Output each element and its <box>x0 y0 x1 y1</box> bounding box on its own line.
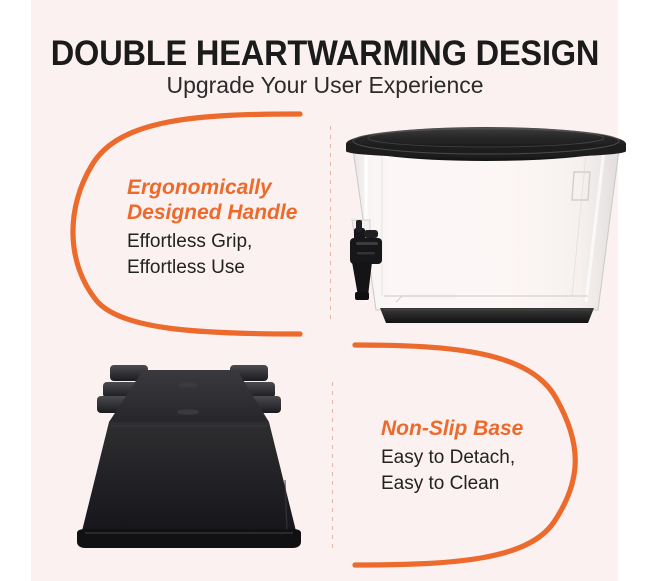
feature-kicker-ergonomic-handle: Ergonomically Designed Handle <box>127 175 342 225</box>
stand-bottom-rail <box>77 529 301 548</box>
marketing-banner: DOUBLE HEARTWARMING DESIGN Upgrade Your … <box>0 0 650 581</box>
feature-body-ergonomic-handle: Effortless Grip, Effortless Use <box>127 229 342 281</box>
feature-body-non-slip-base: Easy to Detach, Easy to Clean <box>381 445 581 497</box>
feature-block-ergonomic-handle: Ergonomically Designed Handle Effortless… <box>127 175 342 281</box>
page-title: DOUBLE HEARTWARMING DESIGN <box>23 34 628 74</box>
dashed-divider-bottom <box>332 382 333 550</box>
stand-front-face <box>81 422 297 535</box>
feature-kicker-non-slip-base: Non-Slip Base <box>381 416 581 441</box>
feature-block-non-slip-base: Non-Slip Base Easy to Detach, Easy to Cl… <box>381 416 581 497</box>
product-image-non-slip-base <box>55 360 325 560</box>
product-image-beverage-dispenser <box>336 120 636 335</box>
page-subtitle: Upgrade Your User Experience <box>0 72 650 99</box>
dispenser-tank <box>352 142 620 310</box>
